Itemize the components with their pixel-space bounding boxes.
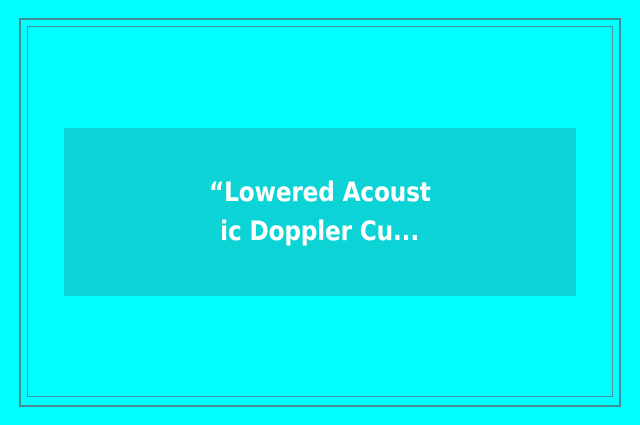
quote-card: “Lowered Acoust ic Doppler Cu...	[0, 0, 640, 425]
quote-panel: “Lowered Acoust ic Doppler Cu...	[64, 128, 576, 296]
quote-line-2: ic Doppler Cu...	[221, 212, 420, 251]
quote-line-1: “Lowered Acoust	[209, 173, 431, 212]
